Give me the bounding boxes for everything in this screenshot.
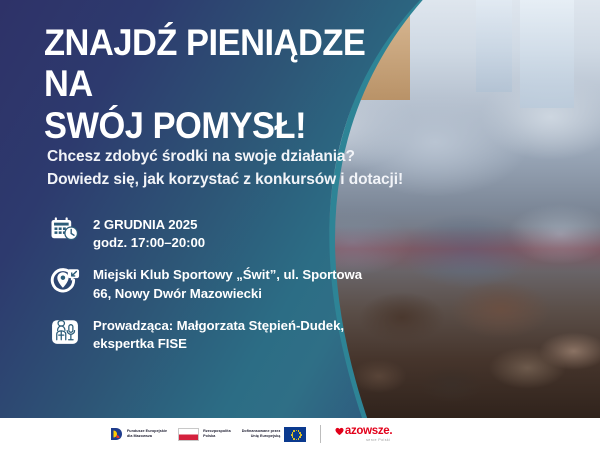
eu-star-icon [298, 438, 300, 440]
page-title: ZNAJDŹ PIENIĄDZE NA SWÓJ POMYSŁ! [44, 22, 388, 146]
poland-flag-icon [178, 428, 199, 441]
event-detail-presenter: Prowadząca: Małgorzata Stępień-Dudek, ek… [50, 316, 470, 353]
ue-caption: Dofinansowane przez Unię Europejską [242, 429, 281, 439]
mazowsze-tagline: serce Polski [366, 438, 390, 442]
speaker-presenter-icon [50, 317, 80, 347]
eu-star-icon [299, 436, 301, 438]
subtitle: Chcesz zdobyć środki na swoje działania?… [47, 145, 557, 192]
heart-icon [335, 427, 344, 436]
footer-logo-bar: Fundusze Europejskie dla Mazowsza Rzeczp… [0, 418, 600, 450]
eu-star-icon [293, 438, 295, 440]
footer-divider [320, 425, 321, 443]
calendar-clock-icon [50, 216, 80, 246]
event-date-text: 2 GRUDNIA 2025 godz. 17:00–20:00 [93, 215, 205, 252]
location-pin-icon [50, 266, 80, 296]
event-detail-location: Miejski Klub Sportowy „Świt”, ul. Sporto… [50, 265, 470, 302]
eu-star-icon [292, 432, 294, 434]
fe-stars-icon [110, 427, 123, 442]
eu-star-icon [296, 439, 298, 441]
eu-star-icon [291, 434, 293, 436]
footer-logos: Fundusze Europejskie dla Mazowsza Rzeczp… [110, 425, 392, 443]
rp-caption: Rzeczpospolita Polska [203, 429, 231, 439]
unia-europejska-logo: Dofinansowane przez Unię Europejską [242, 427, 307, 442]
poster: ZNAJDŹ PIENIĄDZE NA SWÓJ POMYSŁ! Chcesz … [0, 0, 600, 450]
fe-caption: Fundusze Europejskie dla Mazowsza [127, 429, 167, 439]
eu-flag-icon [284, 427, 306, 442]
rzeczpospolita-polska-logo: Rzeczpospolita Polska [178, 428, 231, 441]
event-detail-date: 2 GRUDNIA 2025 godz. 17:00–20:00 [50, 215, 470, 252]
eu-star-icon [293, 430, 295, 432]
event-details-list: 2 GRUDNIA 2025 godz. 17:00–20:00 Miejski… [50, 215, 470, 366]
eu-star-icon [296, 430, 298, 432]
mazowsze-word-text: azowsze. [345, 426, 392, 438]
fundusze-europejskie-logo: Fundusze Europejskie dla Mazowsza [110, 427, 167, 442]
poster-content: ZNAJDŹ PIENIĄDZE NA SWÓJ POMYSŁ! Chcesz … [0, 0, 600, 418]
mazowsze-wordmark: azowsze. [335, 426, 392, 438]
event-presenter-text: Prowadząca: Małgorzata Stępień-Dudek, ek… [93, 316, 344, 353]
mazowsze-logo: azowsze. serce Polski [335, 426, 392, 443]
event-location-text: Miejski Klub Sportowy „Świt”, ul. Sporto… [93, 265, 362, 302]
